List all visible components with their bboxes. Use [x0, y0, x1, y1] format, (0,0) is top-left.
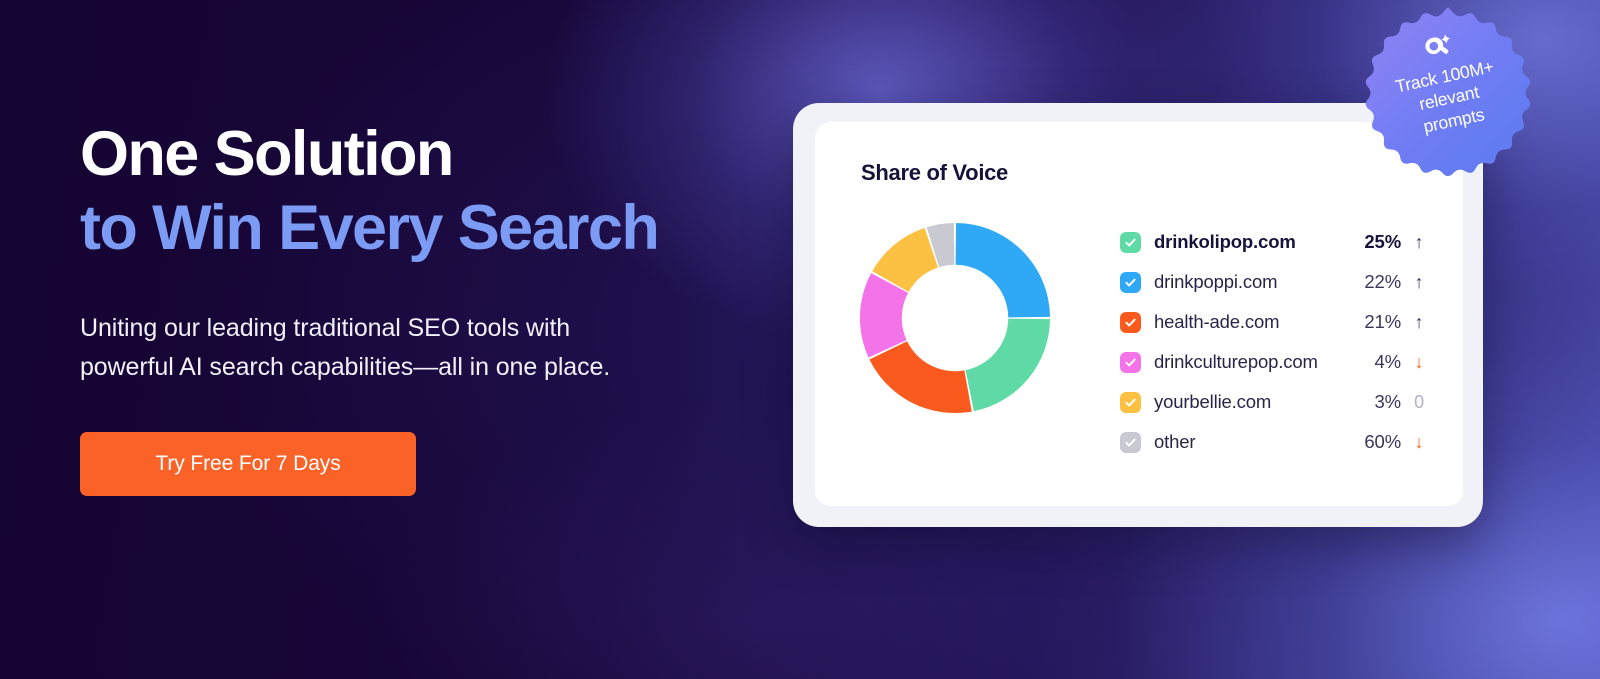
subheading-line-2: powerful AI search capabilities—all in o…	[80, 353, 610, 381]
legend-checkbox[interactable]	[1120, 272, 1141, 293]
legend-checkbox[interactable]	[1120, 352, 1141, 373]
legend-percent: 3%	[1375, 391, 1401, 413]
legend-percent: 21%	[1364, 311, 1401, 333]
check-icon	[1124, 316, 1137, 329]
legend-checkbox[interactable]	[1120, 432, 1141, 453]
check-icon	[1124, 236, 1137, 249]
donut-slice[interactable]	[956, 223, 1050, 317]
legend-row[interactable]: drinkolipop.com25%↑	[1120, 222, 1430, 262]
hero-section: One Solution to Win Every Search Uniting…	[0, 0, 1600, 679]
check-icon	[1124, 276, 1137, 289]
hero-subheading: Uniting our leading traditional SEO tool…	[80, 309, 780, 387]
subheading-line-1: Uniting our leading traditional SEO tool…	[80, 314, 570, 342]
chart-legend: drinkolipop.com25%↑drinkpoppi.com22%↑hea…	[1120, 222, 1430, 462]
trend-up-icon: ↑	[1408, 313, 1430, 331]
legend-label: yourbellie.com	[1154, 391, 1367, 413]
legend-percent: 25%	[1364, 231, 1401, 253]
legend-row[interactable]: health-ade.com21%↑	[1120, 302, 1430, 342]
check-icon	[1124, 436, 1137, 449]
check-icon	[1124, 356, 1137, 369]
trend-down-icon: ↓	[1408, 353, 1430, 371]
legend-row[interactable]: drinkpoppi.com22%↑	[1120, 262, 1430, 302]
page-title: One Solution to Win Every Search	[80, 118, 780, 265]
trend-down-icon: ↓	[1408, 433, 1430, 451]
badge-text: Track 100M+ relevant prompts	[1378, 52, 1521, 145]
card-title: Share of Voice	[861, 160, 1008, 186]
legend-checkbox[interactable]	[1120, 232, 1141, 253]
legend-label: drinkolipop.com	[1154, 231, 1356, 253]
headline-line-2: to Win Every Search	[80, 192, 780, 266]
legend-row[interactable]: other60%↓	[1120, 422, 1430, 462]
legend-percent: 22%	[1364, 271, 1401, 293]
magnifier-sparkle-icon	[1419, 31, 1458, 67]
try-free-button[interactable]: Try Free For 7 Days	[80, 432, 416, 496]
donut-slice[interactable]	[966, 319, 1050, 412]
trend-up-icon: ↑	[1408, 233, 1430, 251]
promo-badge: Track 100M+ relevant prompts	[1362, 7, 1534, 179]
legend-label: health-ade.com	[1154, 311, 1356, 333]
donut-chart-svg	[857, 220, 1053, 416]
trend-up-icon: ↑	[1408, 273, 1430, 291]
legend-label: drinkpoppi.com	[1154, 271, 1356, 293]
legend-checkbox[interactable]	[1120, 312, 1141, 333]
card-surface: Share of Voice drinkolipop.com25%↑drinkp…	[815, 122, 1463, 506]
legend-label: drinkculturepop.com	[1154, 351, 1367, 373]
legend-percent: 4%	[1375, 351, 1401, 373]
legend-checkbox[interactable]	[1120, 392, 1141, 413]
hero-copy: One Solution to Win Every Search Uniting…	[80, 118, 780, 496]
legend-row[interactable]: yourbellie.com3%0	[1120, 382, 1430, 422]
legend-row[interactable]: drinkculturepop.com4%↓	[1120, 342, 1430, 382]
legend-label: other	[1154, 431, 1356, 453]
legend-percent: 60%	[1364, 431, 1401, 453]
donut-slice[interactable]	[869, 341, 971, 413]
headline-line-1: One Solution	[80, 119, 453, 189]
check-icon	[1124, 396, 1137, 409]
trend-flat-icon: 0	[1408, 393, 1430, 411]
donut-chart	[857, 220, 1053, 416]
